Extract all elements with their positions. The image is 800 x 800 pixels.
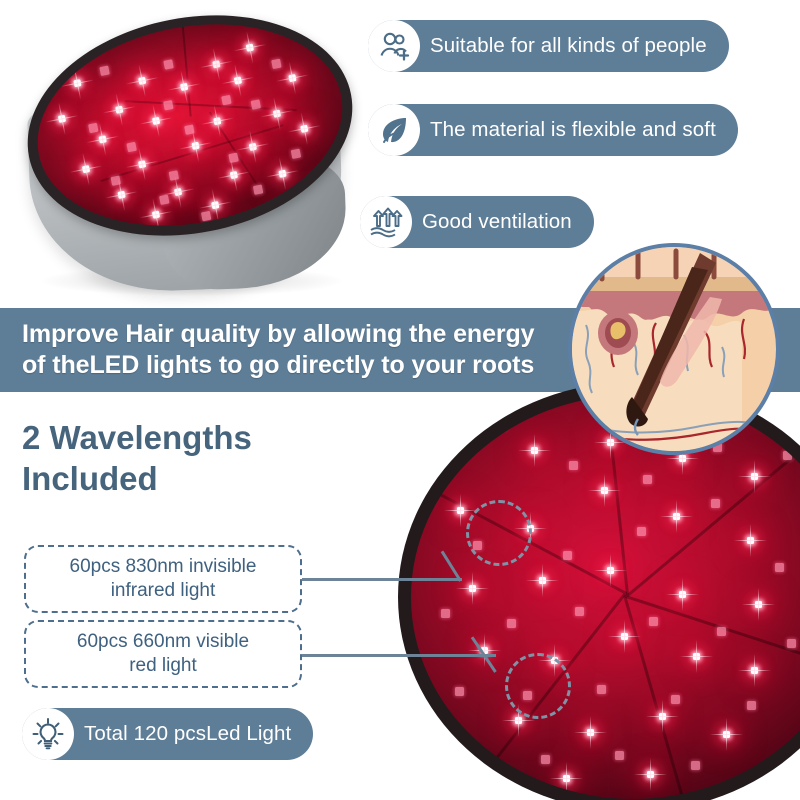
callout-infrared-line-1: 60pcs 830nm invisible: [70, 556, 257, 577]
hair-follicle-illustration: [568, 243, 780, 455]
callout-red-line-2: red light: [129, 655, 197, 676]
feature-pill-ventilation: Good ventilation: [360, 196, 594, 248]
callout-infrared: 60pcs 830nm invisible infrared light: [24, 545, 302, 613]
feature-label-people: Suitable for all kinds of people: [430, 34, 707, 58]
connector-infrared-h: [302, 578, 462, 581]
product-photo-bottom: [398, 382, 800, 800]
total-led-pill: Total 120 pcsLed Light: [22, 708, 313, 760]
callout-red: 60pcs 660nm visible red light: [24, 620, 302, 688]
connector-red-h: [302, 654, 496, 657]
product-infographic: Suitable for all kinds of people The mat…: [0, 0, 800, 800]
callout-infrared-line-2: infrared light: [111, 580, 216, 601]
callout-red-line-1: 60pcs 660nm visible: [77, 631, 249, 652]
page-title: 2 Wavelengths Included: [22, 418, 402, 500]
ventilation-icon: [360, 196, 412, 248]
product-photo-top: [12, 8, 362, 303]
headline-line-1: 2 Wavelengths: [22, 418, 402, 459]
highlight-circle-infrared-led: [466, 500, 532, 566]
feature-label-ventilation: Good ventilation: [422, 210, 572, 234]
total-led-label: Total 120 pcsLed Light: [84, 722, 291, 746]
feature-pill-people: Suitable for all kinds of people: [368, 20, 729, 72]
lightbulb-icon: [22, 708, 74, 760]
feature-label-material: The material is flexible and soft: [430, 118, 716, 142]
feature-pill-material: The material is flexible and soft: [368, 104, 738, 156]
highlight-circle-red-led: [505, 653, 571, 719]
headline-line-2: Included: [22, 459, 402, 500]
people-plus-icon: [368, 20, 420, 72]
feather-icon: [368, 104, 420, 156]
